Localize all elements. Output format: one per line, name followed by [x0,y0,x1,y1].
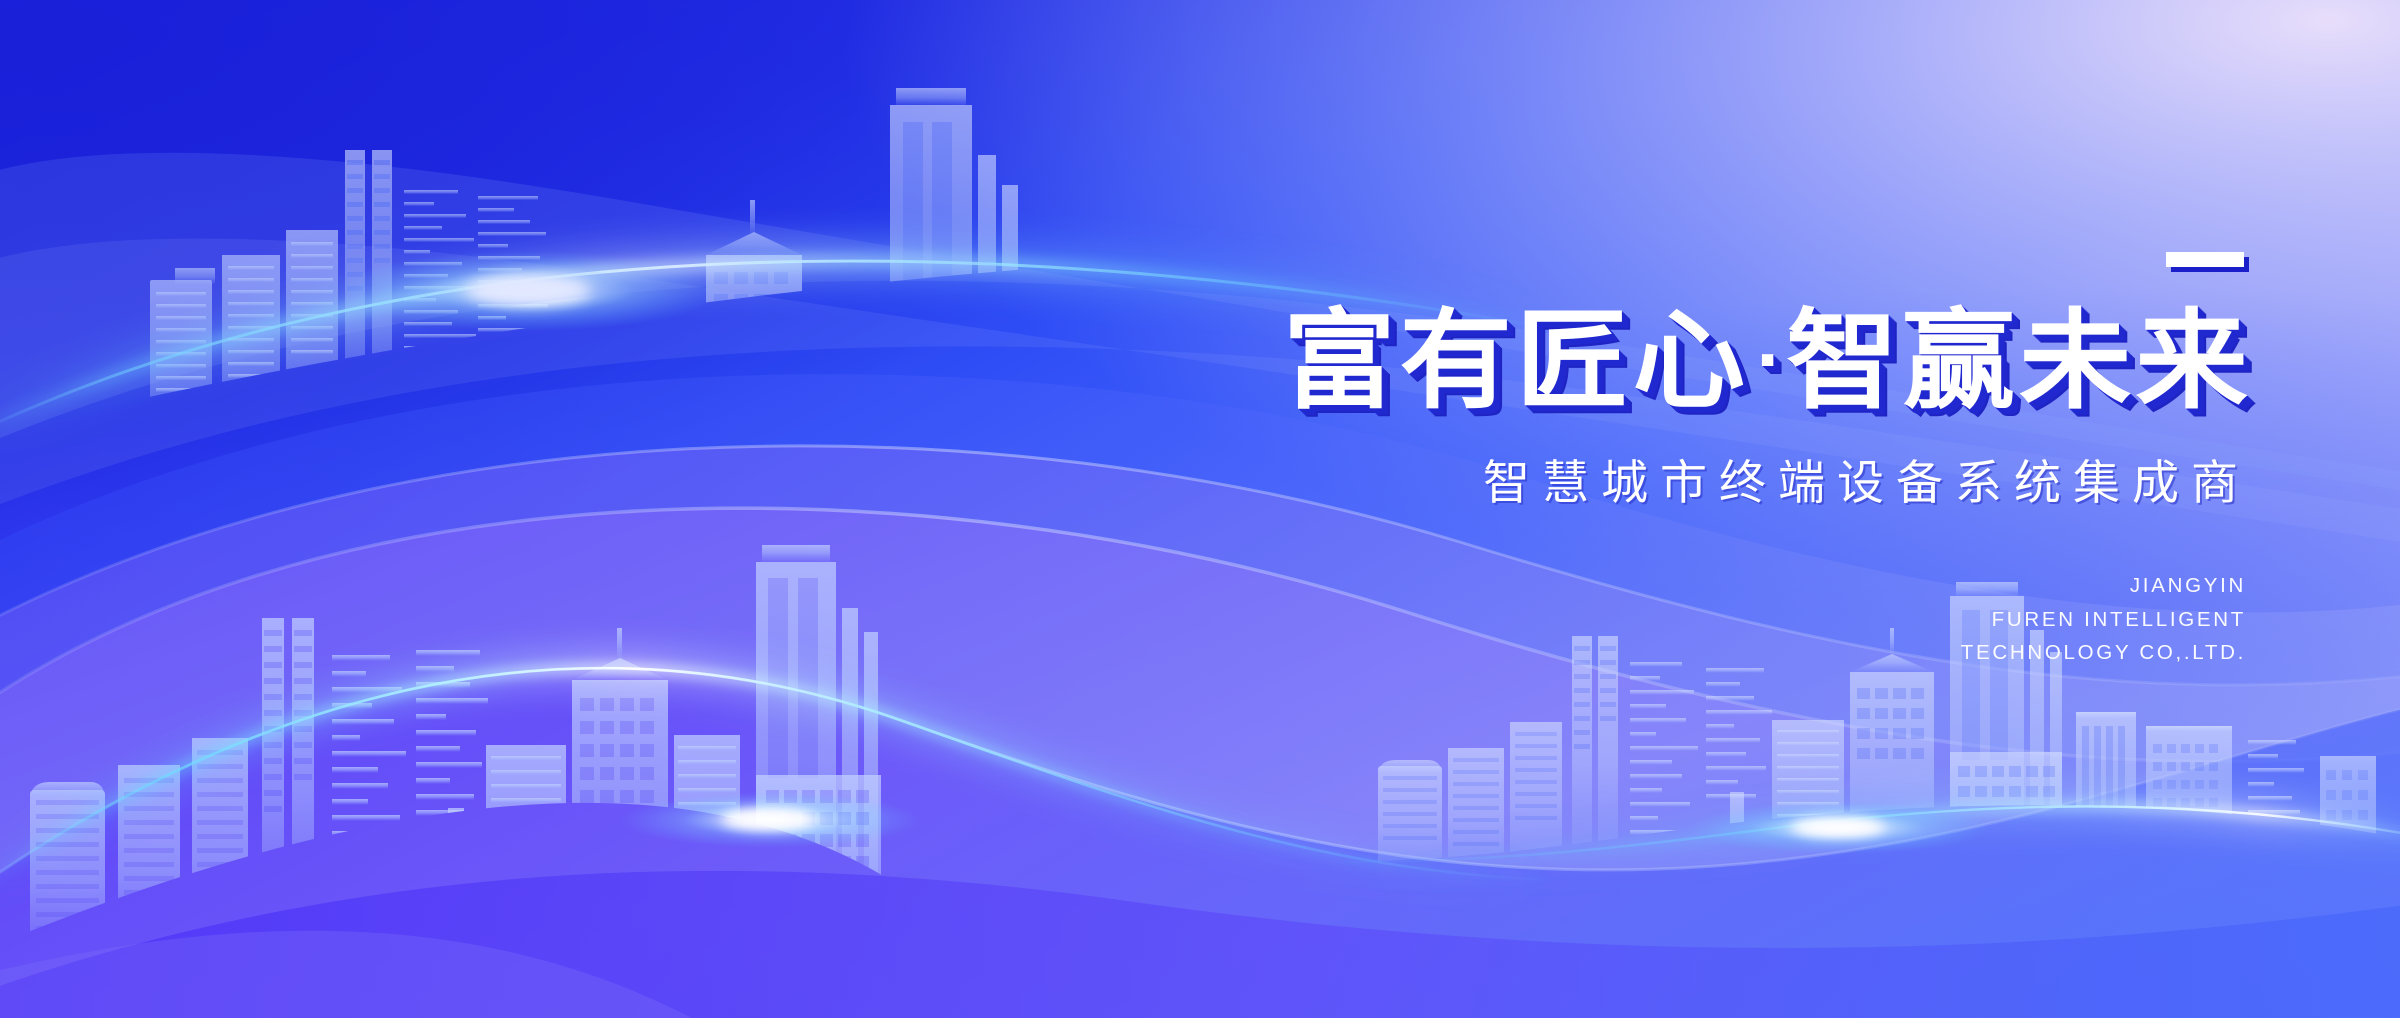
company-line-2: FUREN INTELLIGENT [1072,603,2246,636]
company-name-block: JIANGYIN FUREN INTELLIGENT TECHNOLOGY CO… [1072,569,2252,669]
promotional-banner: 富有匠心·智赢未来 智慧城市终端设备系统集成商 JIANGYIN FUREN I… [0,0,2400,1018]
dash-rule-icon [2166,252,2244,267]
page-subtitle: 智慧城市终端设备系统集成商 [1072,444,2252,513]
title-part-two: 智赢未来 [1786,299,2252,424]
company-line-3: TECHNOLOGY CO,.LTD. [1072,636,2246,669]
page-title: 富有匠心·智赢未来 [1025,306,2252,418]
company-line-1: JIANGYIN [1072,569,2246,602]
title-part-one: 富有匠心 [1283,299,1749,424]
title-separator-dot: · [1749,324,1786,397]
headline-text-block: 富有匠心·智赢未来 智慧城市终端设备系统集成商 JIANGYIN FUREN I… [1072,252,2252,669]
